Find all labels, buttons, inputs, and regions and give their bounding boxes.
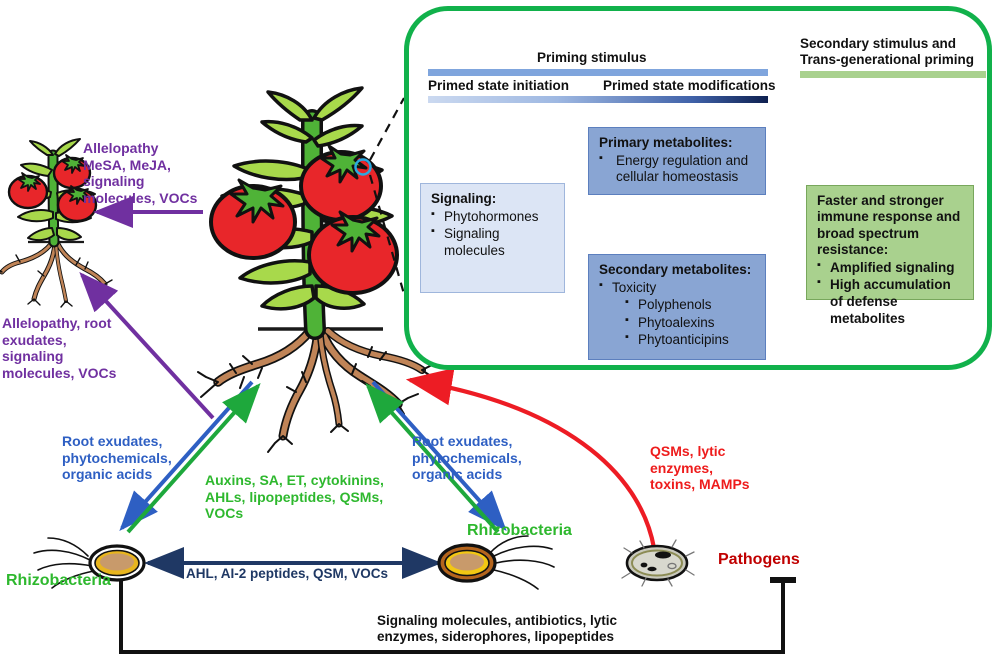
pathogens-label: Pathogens: [718, 551, 800, 570]
primary-metabolites-heading: Primary metabolites:: [599, 135, 756, 152]
primary-metabolites-box: Primary metabolites: Energy regulation a…: [588, 127, 766, 195]
primary-metabolites-list: Energy regulation and cellular homeostas…: [599, 153, 756, 186]
bacteria-crosstalk-label: AHL, AI-2 peptides, QSM, VOCs: [186, 566, 388, 582]
secondary-metabolites-subitem: Phytoalexins: [625, 315, 756, 332]
root-exudates-left-label: Root exudates, phytochemicals, organic a…: [62, 433, 187, 483]
resistance-item: High accumulation of defense metabolites: [817, 277, 964, 327]
secondary-metabolites-list: Toxicity Polyphenols Phytoalexins Phytoa…: [599, 280, 756, 349]
signaling-item: Signaling molecules: [431, 226, 555, 259]
secondary-metabolites-box: Secondary metabolites: Toxicity Polyphen…: [588, 254, 766, 360]
root-exudates-right-label: Root exudates, phytochemicals, organic a…: [412, 433, 537, 483]
primed-state-gradient-bar: [428, 96, 768, 103]
resistance-box: Faster and stronger immune response and …: [806, 185, 974, 300]
auxins-label: Auxins, SA, ET, cytokinins, AHLs, lipope…: [205, 472, 385, 522]
neighbor-root-system: [0, 243, 112, 307]
signaling-item: Phytohormones: [431, 209, 555, 226]
secondary-stimulus-label: Secondary stimulus and Trans-generationa…: [800, 36, 986, 69]
rhizobacteria-left-label: Rhizobacteria: [6, 572, 111, 591]
signaling-list: Phytohormones Signaling molecules: [431, 209, 555, 260]
allelopathy-shoot-label: Allelopathy MeSA, MeJA, signaling molecu…: [83, 140, 205, 206]
primed-state-modifications-label: Primed state modifications: [603, 78, 776, 93]
figure-canvas: Priming stimulus Primed state initiation…: [0, 0, 1000, 663]
priming-stimulus-bar: [428, 69, 768, 76]
antagonism-label: Signaling molecules, antibiotics, lytic …: [377, 613, 643, 645]
secondary-metabolites-heading: Secondary metabolites:: [599, 262, 756, 279]
resistance-heading: Faster and stronger immune response and …: [817, 193, 964, 259]
pathogen-icon: [622, 540, 694, 586]
primary-metabolites-item: Energy regulation and cellular homeostas…: [599, 153, 756, 186]
pathogen-signals-label: QSMs, lytic enzymes, toxins, MAMPs: [650, 443, 762, 493]
secondary-metabolites-item: Toxicity: [599, 280, 756, 297]
priming-stimulus-label: Priming stimulus: [537, 50, 647, 65]
secondary-stimulus-bar: [800, 71, 986, 78]
resistance-item: Amplified signaling: [817, 260, 964, 277]
secondary-metabolites-subitem: Polyphenols: [625, 297, 756, 314]
signaling-box: Signaling: Phytohormones Signaling molec…: [420, 183, 565, 293]
rhizobacteria-right-label: Rhizobacteria: [467, 522, 572, 541]
signaling-heading: Signaling:: [431, 191, 555, 208]
allelopathy-root-label: Allelopathy, root exudates, signaling mo…: [2, 315, 127, 381]
resistance-list: Amplified signaling High accumulation of…: [817, 260, 964, 327]
rhizobacteria-right-icon: [439, 536, 554, 589]
primed-state-initiation-label: Primed state initiation: [428, 78, 569, 93]
secondary-metabolites-subitem: Phytoanticipins: [625, 332, 756, 349]
